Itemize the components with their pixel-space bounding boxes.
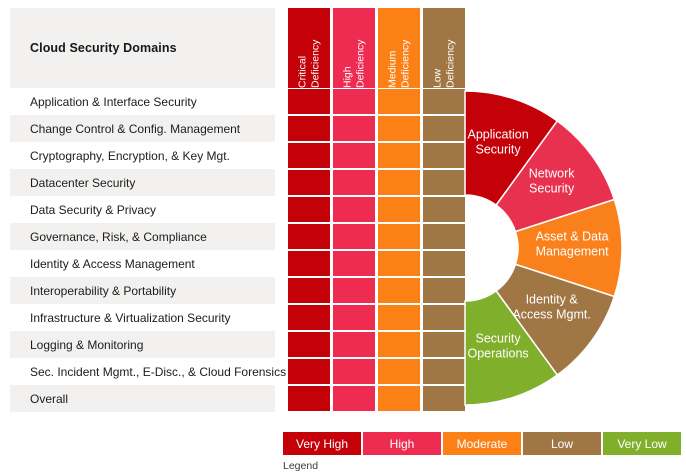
donut-segment-label: Asset & DataManagement — [536, 230, 609, 259]
column-header-critical[interactable]: CriticalDeficiency — [288, 8, 330, 88]
legend-item-label: High — [390, 437, 415, 451]
row-label: Change Control & Config. Management — [10, 122, 240, 136]
column-header-label: CriticalDeficiency — [297, 8, 322, 88]
row-label-cell: Sec. Incident Mgmt., E-Disc., & Cloud Fo… — [10, 358, 275, 385]
matrix-title-cell: Cloud Security Domains — [10, 8, 275, 88]
row-label: Overall — [10, 392, 68, 406]
legend-item-label: Very Low — [617, 437, 666, 451]
row-label: Application & Interface Security — [10, 95, 197, 109]
row-label-cell: Identity & Access Management — [10, 250, 275, 277]
row-label-cell: Change Control & Config. Management — [10, 115, 275, 142]
donut-segment-label: SecurityOperations — [468, 331, 529, 360]
legend-caption: Legend — [283, 460, 318, 472]
legend-item-low[interactable]: Low — [523, 432, 601, 455]
column-header-label: LowDeficiency — [432, 8, 457, 88]
row-label: Data Security & Privacy — [10, 203, 156, 217]
row-label: Cryptography, Encryption, & Key Mgt. — [10, 149, 230, 163]
row-label-cell: Interoperability & Portability — [10, 277, 275, 304]
legend-item-label: Low — [551, 437, 573, 451]
legend-item-very-low[interactable]: Very Low — [603, 432, 681, 455]
row-label: Infrastructure & Virtualization Security — [10, 311, 231, 325]
legend-item-moderate[interactable]: Moderate — [443, 432, 521, 455]
legend-item-high[interactable]: High — [363, 432, 441, 455]
row-label: Logging & Monitoring — [10, 338, 143, 352]
column-header-medium[interactable]: MediumDeficiency — [378, 8, 420, 88]
row-label-cell: Logging & Monitoring — [10, 331, 275, 358]
legend-item-very-high[interactable]: Very High — [283, 432, 361, 455]
row-label-cell: Infrastructure & Virtualization Security — [10, 304, 275, 331]
row-label: Identity & Access Management — [10, 257, 195, 271]
row-label-cell: Data Security & Privacy — [10, 196, 275, 223]
column-header-low[interactable]: LowDeficiency — [423, 8, 465, 88]
donut-segment-label: ApplicationSecurity — [468, 128, 529, 157]
legend-item-label: Moderate — [457, 437, 508, 451]
row-label: Governance, Risk, & Compliance — [10, 230, 207, 244]
page-title: Cloud Security Domains — [10, 41, 177, 55]
column-header-label: MediumDeficiency — [387, 8, 412, 88]
row-label: Sec. Incident Mgmt., E-Disc., & Cloud Fo… — [10, 365, 286, 379]
row-label-cell: Datacenter Security — [10, 169, 275, 196]
legend-item-label: Very High — [296, 437, 348, 451]
row-label-cell: Cryptography, Encryption, & Key Mgt. — [10, 142, 275, 169]
row-label-cell: Governance, Risk, & Compliance — [10, 223, 275, 250]
legend-swatches: Very HighHighModerateLowVery Low — [283, 432, 681, 455]
column-header-label: HighDeficiency — [342, 8, 367, 88]
row-label-cell: Overall — [10, 385, 275, 412]
infographic-canvas: Cloud Security Domains CriticalDeficienc… — [0, 0, 686, 475]
column-header-group: CriticalDeficiencyHighDeficiencyMediumDe… — [288, 8, 465, 88]
domain-donut-chart: ApplicationSecurityNetworkSecurityAsset … — [300, 80, 640, 420]
donut-segment-label: NetworkSecurity — [529, 167, 576, 196]
row-label: Datacenter Security — [10, 176, 135, 190]
column-header-high[interactable]: HighDeficiency — [333, 8, 375, 88]
row-label: Interoperability & Portability — [10, 284, 176, 298]
row-label-cell: Application & Interface Security — [10, 88, 275, 115]
matrix-header-row: Cloud Security Domains CriticalDeficienc… — [10, 8, 466, 88]
